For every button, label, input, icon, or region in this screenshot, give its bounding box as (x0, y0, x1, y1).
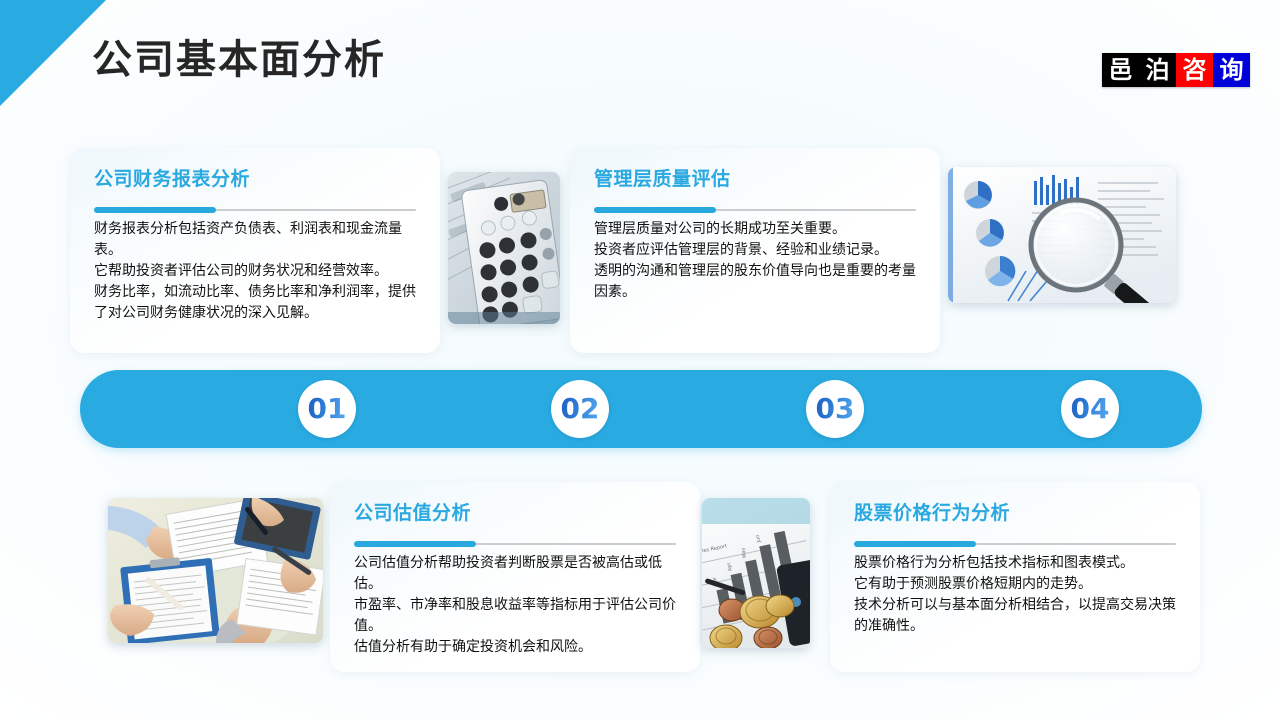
content-card-3[interactable]: 公司估值分析 公司估值分析帮助投资者判断股票是否被高估或低估。 市盈率、市净率和… (330, 482, 700, 672)
logo-char-2: 泊 (1139, 53, 1176, 87)
content-card-4[interactable]: 股票价格行为分析 股票价格行为分析包括技术指标和图表模式。 它有助于预测股票价格… (830, 482, 1200, 672)
divider-accent (854, 541, 976, 547)
step-label-03: 03 (816, 395, 855, 423)
divider-accent (594, 207, 716, 213)
card-divider-1 (94, 207, 416, 213)
divider-accent (354, 541, 476, 547)
logo-char-4: 询 (1213, 53, 1250, 87)
photo-magnifier-charts (948, 167, 1176, 303)
content-card-1[interactable]: 公司财务报表分析 财务报表分析包括资产负债表、利润表和现金流量表。 它帮助投资者… (70, 148, 440, 353)
card-divider-4 (854, 541, 1176, 547)
photo-coins-report: Sales Report Mar Apr May Jun (702, 498, 810, 648)
content-card-2[interactable]: 管理层质量评估 管理层质量对公司的长期成功至关重要。 投资者应评估管理层的背景、… (570, 148, 940, 353)
step-number-01[interactable]: 01 (298, 380, 356, 438)
step-number-bar: 01 02 03 04 (80, 370, 1202, 448)
card-divider-3 (354, 541, 676, 547)
card-title-1: 公司财务报表分析 (94, 170, 416, 191)
card-title-2: 管理层质量评估 (594, 170, 916, 191)
brand-logo: 邑 泊 咨 询 (1102, 53, 1250, 87)
card-divider-2 (594, 207, 916, 213)
card-body-4: 股票价格行为分析包括技术指标和图表模式。 它有助于预测股票价格短期内的走势。 技… (854, 553, 1176, 637)
card-title-3: 公司估值分析 (354, 504, 676, 525)
step-number-02[interactable]: 02 (551, 380, 609, 438)
step-number-04[interactable]: 04 (1061, 380, 1119, 438)
step-label-01: 01 (308, 395, 347, 423)
step-label-04: 04 (1071, 395, 1110, 423)
step-label-02: 02 (561, 395, 600, 423)
logo-char-3: 咨 (1176, 53, 1213, 87)
photo-business-meeting (108, 498, 323, 643)
divider-accent (94, 207, 216, 213)
card-body-3: 公司估值分析帮助投资者判断股票是否被高估或低估。 市盈率、市净率和股息收益率等指… (354, 553, 676, 658)
step-number-03[interactable]: 03 (806, 380, 864, 438)
card-title-4: 股票价格行为分析 (854, 504, 1176, 525)
slide-canvas: 公司基本面分析 邑 泊 咨 询 公司财务报表分析 财务报表分析包括资产负债表、利… (0, 0, 1280, 720)
photo-calculator-money (448, 172, 560, 324)
card-body-2: 管理层质量对公司的长期成功至关重要。 投资者应评估管理层的背景、经验和业绩记录。… (594, 219, 916, 303)
logo-char-1: 邑 (1102, 53, 1139, 87)
card-body-1: 财务报表分析包括资产负债表、利润表和现金流量表。 它帮助投资者评估公司的财务状况… (94, 219, 416, 324)
page-title: 公司基本面分析 (92, 40, 386, 80)
